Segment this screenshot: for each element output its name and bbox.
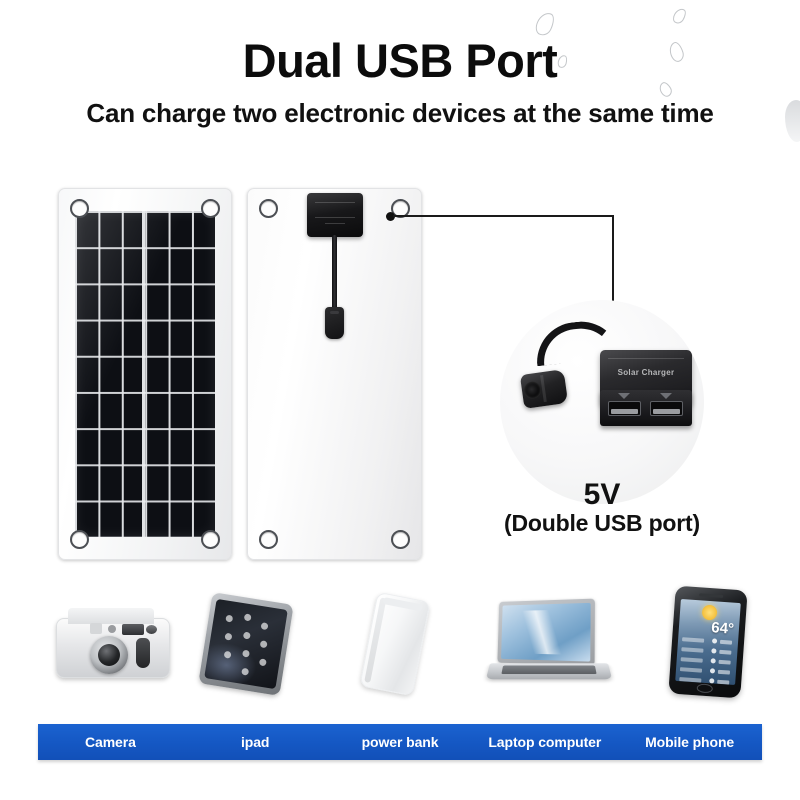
grommet-icon: [201, 199, 220, 218]
grommet-icon: [259, 199, 278, 218]
usb-port-2: [650, 401, 683, 416]
grommet-icon: [70, 530, 89, 549]
usb-symbol-icon: [618, 393, 630, 399]
tablet-icon: [205, 598, 301, 690]
device-label-bar: Camera ipad power bank Laptop computer M…: [38, 724, 762, 760]
device-label-power-bank: power bank: [328, 734, 473, 750]
junction-box-icon: [307, 193, 363, 237]
solar-panel-back: [247, 188, 422, 560]
camera-icon: [52, 600, 172, 682]
solar-panel-front: [58, 188, 232, 560]
voltage-label: 5V: [500, 478, 704, 512]
usb-port-1: [608, 401, 641, 416]
device-label-mobile-phone: Mobile phone: [617, 734, 762, 750]
infographic-canvas: Dual USB Port Can charge two electronic …: [0, 0, 800, 800]
device-label-camera: Camera: [38, 734, 183, 750]
power-bank-icon: [358, 596, 450, 692]
water-droplet-icon: [671, 6, 689, 25]
page-subtitle: Can charge two electronic devices at the…: [0, 98, 800, 129]
dual-usb-charger-device: Solar Charger: [600, 350, 692, 426]
port-description-label: (Double USB port): [455, 510, 749, 537]
grommet-icon: [259, 530, 278, 549]
callout-leader-line: [393, 215, 614, 217]
device-label-laptop: Laptop computer: [472, 734, 617, 750]
mobile-phone-icon: 64°: [672, 588, 752, 696]
laptop-icon: [488, 600, 610, 686]
usb-symbol-icon: [660, 393, 672, 399]
page-title: Dual USB Port: [0, 36, 800, 85]
sun-weather-icon: [702, 605, 718, 621]
usb-charger-detail-photo: Solar Charger: [500, 300, 704, 504]
grommet-icon: [201, 530, 220, 549]
callout-leader-line: [612, 215, 614, 303]
panel-cable: [332, 235, 337, 313]
device-label-ipad: ipad: [183, 734, 328, 750]
solar-cell-grid: [75, 211, 215, 537]
dc-connector-icon: [325, 307, 344, 339]
charger-brand-label: Solar Charger: [600, 368, 692, 377]
charger-port-face: [600, 390, 692, 426]
dc-barrel-plug-icon: [520, 369, 568, 409]
grommet-icon: [391, 530, 410, 549]
grommet-icon: [70, 199, 89, 218]
phone-temperature-readout: 64°: [711, 619, 735, 638]
